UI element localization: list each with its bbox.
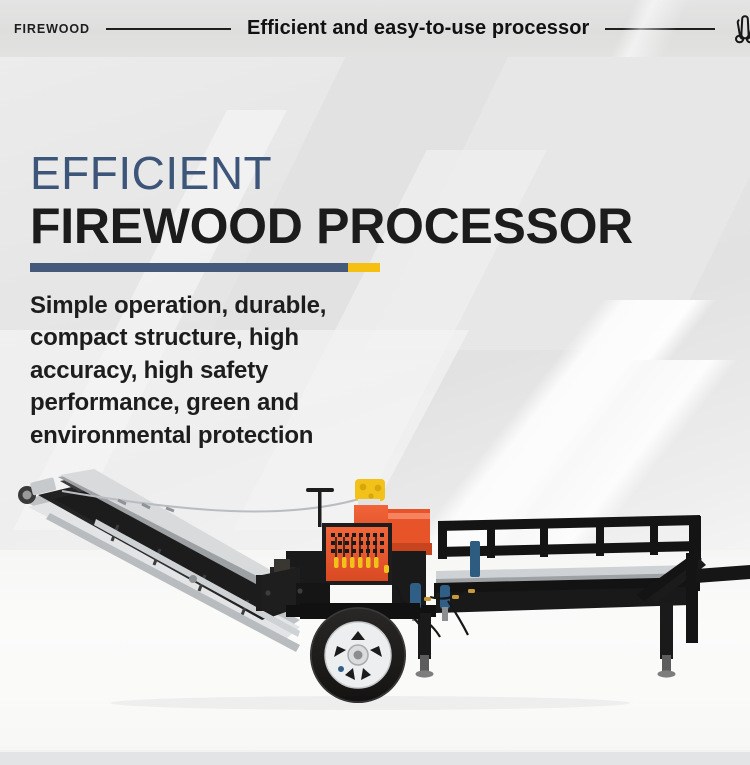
support-leg (416, 603, 676, 678)
conveyor-belt (18, 469, 302, 652)
firewood-processor-machine (0, 455, 750, 715)
accent-bar-blue (30, 263, 348, 272)
hero-eyebrow: EFFICIENT (30, 150, 630, 196)
control-panel (322, 523, 392, 585)
header-bar: FIREWOOD Efficient and easy-to-use proce… (0, 0, 750, 57)
winch-pulley (355, 479, 385, 507)
hero-title: FIREWOOD PROCESSOR (30, 200, 630, 253)
promo-banner: FIREWOOD Efficient and easy-to-use proce… (0, 0, 750, 765)
trailer-wheel (300, 603, 420, 703)
accent-bar-gold (348, 263, 380, 272)
firewood-logs-icon (731, 13, 750, 45)
header-tagline: Efficient and easy-to-use processor (247, 17, 589, 40)
header-rule-left (106, 28, 231, 30)
header-rule-right (605, 28, 715, 30)
log-deck-frame (434, 515, 750, 643)
accent-bar (30, 263, 380, 272)
hero-description: Simple operation, durable, compact struc… (30, 290, 348, 452)
bottom-strip (0, 752, 750, 765)
hero-copy: EFFICIENT FIREWOOD PROCESSOR Simple oper… (30, 150, 630, 452)
brand-label: FIREWOOD (14, 22, 90, 36)
